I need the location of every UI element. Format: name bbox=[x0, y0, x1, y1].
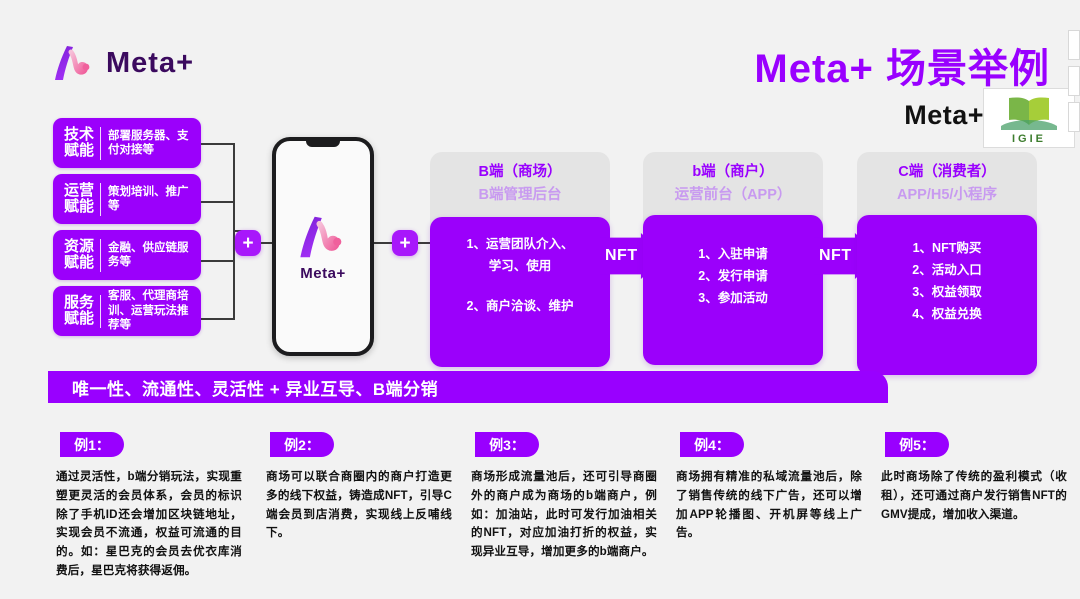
brand-name: Meta+ bbox=[106, 47, 194, 80]
divider bbox=[100, 183, 101, 216]
slide-canvas: Meta+ Meta+ 场景举例 Meta+ IGIE 技术赋能 部署服务器、支… bbox=[0, 0, 1080, 599]
capability-card-resource[interactable]: 资源赋能 金融、供应链服务等 bbox=[53, 230, 201, 280]
capability-list: 技术赋能 部署服务器、支付对接等 运营赋能 策划培训、推广等 资源赋能 金融、供… bbox=[53, 118, 201, 342]
capability-card-service[interactable]: 服务赋能 客服、代理商培训、运营玩法推荐等 bbox=[53, 286, 201, 336]
panel-body: 1、运营团队介入、 学习、使用 2、商户洽谈、维护 bbox=[430, 217, 610, 367]
panel-list-item: 4、权益兑换 bbox=[867, 305, 1027, 323]
meta-plus-swirl-logo bbox=[295, 212, 351, 262]
plus-connector-1: + bbox=[235, 230, 261, 256]
stage-panel-b-mall[interactable]: B端（商场） B端管理后台 1、运营团队介入、 学习、使用 2、商户洽谈、维护 bbox=[430, 152, 610, 367]
phone-app-label: Meta+ bbox=[300, 265, 345, 282]
stage-panel-c-consumer[interactable]: C端（消费者） APP/H5/小程序 1、NFT购买 2、活动入口 3、权益领取… bbox=[857, 152, 1037, 375]
feature-banner: 唯一性、流通性、灵活性 + 异业互导、B端分销 bbox=[48, 371, 888, 403]
panel-subtitle: APP/H5/小程序 bbox=[863, 184, 1031, 207]
example-column-4: 例4： 商场拥有精准的私域流量池后，除了销售传统的线下广告，还可以增加APP轮播… bbox=[676, 432, 862, 543]
bracket-connector bbox=[201, 143, 235, 320]
panel-list-item: 学习、使用 bbox=[440, 257, 600, 275]
capability-desc: 金融、供应链服务等 bbox=[108, 241, 195, 270]
edge-item bbox=[1068, 102, 1080, 132]
example-badge: 例2： bbox=[270, 432, 334, 457]
panel-subtitle: B端管理后台 bbox=[436, 184, 604, 207]
bracket-arm bbox=[201, 318, 235, 320]
example-text: 商场可以联合商圈内的商户打造更多的线下权益，铸造成NFT，引导C端会员到店消费，… bbox=[266, 468, 452, 543]
panel-title: C端（消费者） bbox=[863, 162, 1031, 184]
banner-text: 唯一性、流通性、灵活性 + 异业互导、B端分销 bbox=[72, 375, 438, 400]
example-badge: 例4： bbox=[680, 432, 744, 457]
capability-card-tech[interactable]: 技术赋能 部署服务器、支付对接等 bbox=[53, 118, 201, 168]
divider bbox=[100, 295, 101, 328]
meta-plus-swirl-logo bbox=[52, 42, 96, 84]
panel-list-item: 1、入驻申请 bbox=[653, 245, 813, 263]
capability-desc: 部署服务器、支付对接等 bbox=[108, 129, 195, 158]
capability-key: 资源赋能 bbox=[62, 239, 96, 271]
plus-connector-2: + bbox=[392, 230, 418, 256]
panel-body: 1、入驻申请 2、发行申请 3、参加活动 bbox=[643, 215, 823, 365]
panel-list-item: 2、活动入口 bbox=[867, 261, 1027, 279]
divider bbox=[100, 127, 101, 160]
connector-line bbox=[418, 242, 430, 244]
phone-mockup: Meta+ bbox=[272, 137, 374, 356]
open-book-icon bbox=[1001, 92, 1057, 135]
example-badge: 例3： bbox=[475, 432, 539, 457]
example-text: 商场形成流量池后，还可引导商圈外的商户成为商场的b端商户，例如：加油站，此时可发… bbox=[471, 468, 657, 562]
panel-subtitle: 运营前台（APP） bbox=[649, 184, 817, 207]
edge-item bbox=[1068, 30, 1080, 60]
edge-item bbox=[1068, 66, 1080, 96]
capability-key: 运营赋能 bbox=[62, 183, 96, 215]
panel-body: 1、NFT购买 2、活动入口 3、权益领取 4、权益兑换 bbox=[857, 215, 1037, 375]
bracket-arm bbox=[201, 260, 235, 262]
example-badge: 例1： bbox=[60, 432, 124, 457]
example-column-3: 例3： 商场形成流量池后，还可引导商圈外的商户成为商场的b端商户，例如：加油站，… bbox=[471, 432, 657, 562]
example-text: 此时商场除了传统的盈利模式（收租），还可通过商户发行销售NFT的GMV提成，增加… bbox=[881, 468, 1067, 524]
capability-desc: 策划培训、推广等 bbox=[108, 185, 195, 214]
capability-key: 服务赋能 bbox=[62, 295, 96, 327]
connector-line bbox=[374, 242, 392, 244]
panel-list-item: 2、发行申请 bbox=[653, 267, 813, 285]
brand-logo: Meta+ bbox=[52, 42, 194, 84]
right-edge-panel-strip bbox=[1068, 30, 1080, 148]
example-text: 通过灵活性，b端分销玩法，实现重塑更灵活的会员体系，会员的标识除了手机ID还会增… bbox=[56, 468, 242, 581]
panel-list-item: 3、权益领取 bbox=[867, 283, 1027, 301]
example-column-2: 例2： 商场可以联合商圈内的商户打造更多的线下权益，铸造成NFT，引导C端会员到… bbox=[266, 432, 452, 543]
bracket-arm bbox=[201, 143, 235, 145]
page-subtitle: Meta+ bbox=[904, 100, 984, 131]
phone-notch bbox=[306, 140, 340, 147]
panel-title: b端（商户） bbox=[649, 162, 817, 184]
capability-desc: 客服、代理商培训、运营玩法推荐等 bbox=[108, 289, 195, 332]
panel-title: B端（商场） bbox=[436, 162, 604, 184]
divider bbox=[100, 239, 101, 272]
example-column-1: 例1： 通过灵活性，b端分销玩法，实现重塑更灵活的会员体系，会员的标识除了手机I… bbox=[56, 432, 242, 581]
panel-list-item: 3、参加活动 bbox=[653, 289, 813, 307]
panel-list-item: 1、运营团队介入、 bbox=[440, 235, 600, 253]
stage-panel-b-merchant[interactable]: b端（商户） 运营前台（APP） 1、入驻申请 2、发行申请 3、参加活动 bbox=[643, 152, 823, 365]
capability-card-operations[interactable]: 运营赋能 策划培训、推广等 bbox=[53, 174, 201, 224]
partner-logo-igie: IGIE bbox=[983, 88, 1075, 148]
page-title: Meta+ 场景举例 bbox=[754, 36, 1050, 94]
partner-logo-label: IGIE bbox=[1012, 133, 1046, 145]
example-text: 商场拥有精准的私域流量池后，除了销售传统的线下广告，还可以增加APP轮播图、开机… bbox=[676, 468, 862, 543]
bracket-arm bbox=[201, 201, 235, 203]
capability-key: 技术赋能 bbox=[62, 127, 96, 159]
example-badge: 例5： bbox=[885, 432, 949, 457]
example-column-5: 例5： 此时商场除了传统的盈利模式（收租），还可通过商户发行销售NFT的GMV提… bbox=[881, 432, 1067, 524]
panel-list-item: 1、NFT购买 bbox=[867, 239, 1027, 257]
panel-list-item: 2、商户洽谈、维护 bbox=[440, 297, 600, 315]
